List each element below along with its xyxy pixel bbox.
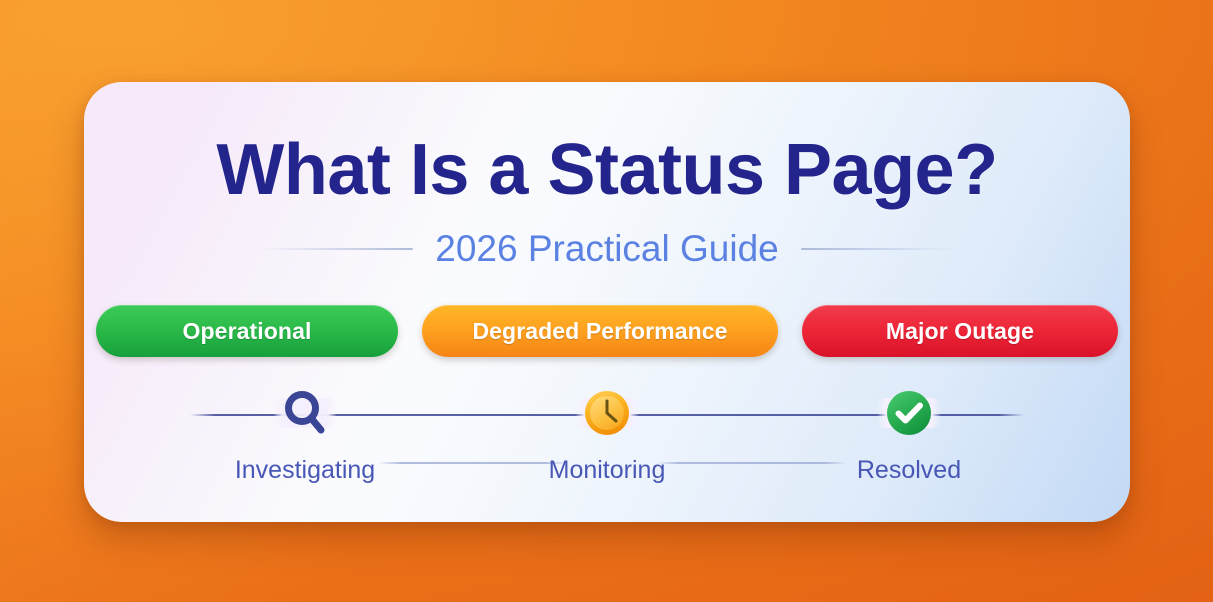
subtitle-rule-right — [801, 248, 956, 250]
status-pill-operational[interactable]: Operational — [96, 305, 398, 357]
magnifying-glass-icon — [274, 382, 336, 444]
timeline-steps: Investigating — [190, 382, 1024, 485]
page-title: What Is a Status Page? — [84, 134, 1130, 206]
title-block: What Is a Status Page? — [84, 134, 1130, 206]
check-circle-icon — [878, 382, 940, 444]
status-pill-outage[interactable]: Major Outage — [802, 305, 1118, 357]
timeline-step-resolved[interactable]: Resolved — [794, 382, 1024, 485]
page-subtitle: 2026 Practical Guide — [435, 230, 778, 267]
subtitle-row: 2026 Practical Guide — [84, 230, 1130, 267]
status-pill-degraded[interactable]: Degraded Performance — [422, 305, 778, 357]
timeline-label-investigating: Investigating — [235, 456, 375, 485]
timeline-step-monitoring[interactable]: Monitoring — [492, 382, 722, 485]
incident-timeline: Investigating — [190, 382, 1024, 492]
clock-icon — [576, 382, 638, 444]
timeline-label-monitoring: Monitoring — [549, 456, 666, 485]
subtitle-rule-left — [258, 248, 413, 250]
background-canvas: What Is a Status Page? 2026 Practical Gu… — [0, 0, 1213, 602]
status-page-card: What Is a Status Page? 2026 Practical Gu… — [84, 82, 1130, 522]
status-pill-row: Operational Degraded Performance Major O… — [84, 305, 1130, 357]
timeline-step-investigating[interactable]: Investigating — [190, 382, 420, 485]
timeline-label-resolved: Resolved — [857, 456, 961, 485]
